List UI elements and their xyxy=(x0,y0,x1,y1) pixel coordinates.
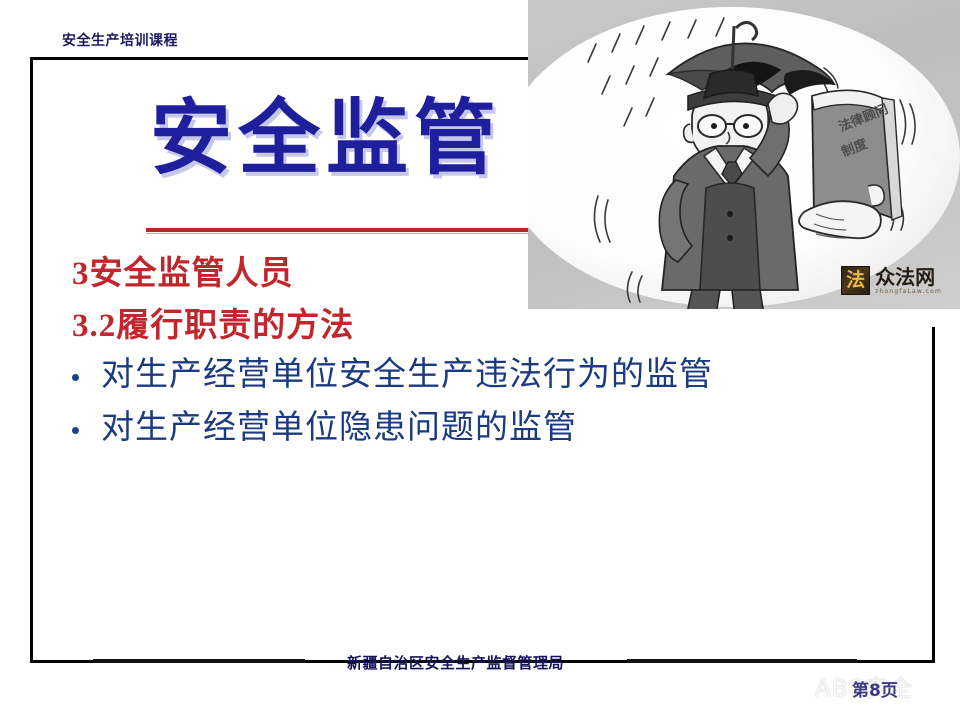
list-item: 对生产经营单位安全生产违法行为的监管 xyxy=(72,355,713,396)
bullet-dot-icon xyxy=(72,374,79,381)
wechat-icon xyxy=(776,668,810,694)
list-item-label: 对生产经营单位安全生产违法行为的监管 xyxy=(101,355,713,396)
footer-divider-right xyxy=(627,659,857,663)
page-number: 第8页 xyxy=(852,676,898,701)
illustration-cartoon: 法律顾问 制度 法 众法网 zhongfaLaw.com xyxy=(528,0,960,327)
zhongfa-logo-text: 众法网 zhongfaLaw.com xyxy=(875,267,942,295)
subsection-heading: 3.2履行职责的方法 xyxy=(72,298,354,346)
bullet-dot-icon xyxy=(72,427,79,434)
footer-divider-left xyxy=(93,659,305,663)
zhongfa-logo-name: 众法网 xyxy=(875,267,942,287)
zhongfa-logo-domain: zhongfaLaw.com xyxy=(875,289,942,295)
course-header-label: 安全生产培训课程 xyxy=(62,30,178,50)
zhongfa-logo-mark: 法 xyxy=(841,266,870,295)
section-heading: 3安全监管人员 xyxy=(72,246,294,294)
zhongfa-logo: 法 众法网 zhongfaLaw.com xyxy=(841,266,942,295)
slide-canvas: 安全生产培训课程 安全监管 3安全监管人员 3.2履行职责的方法 对生产经营单位… xyxy=(0,0,960,720)
illustration-bottom-strip xyxy=(528,309,960,327)
list-item: 对生产经营单位隐患问题的监管 xyxy=(72,408,577,449)
footer-organization-label: 新疆自治区安全生产监督管理局 xyxy=(347,652,564,673)
list-item-label: 对生产经营单位隐患问题的监管 xyxy=(101,408,577,449)
